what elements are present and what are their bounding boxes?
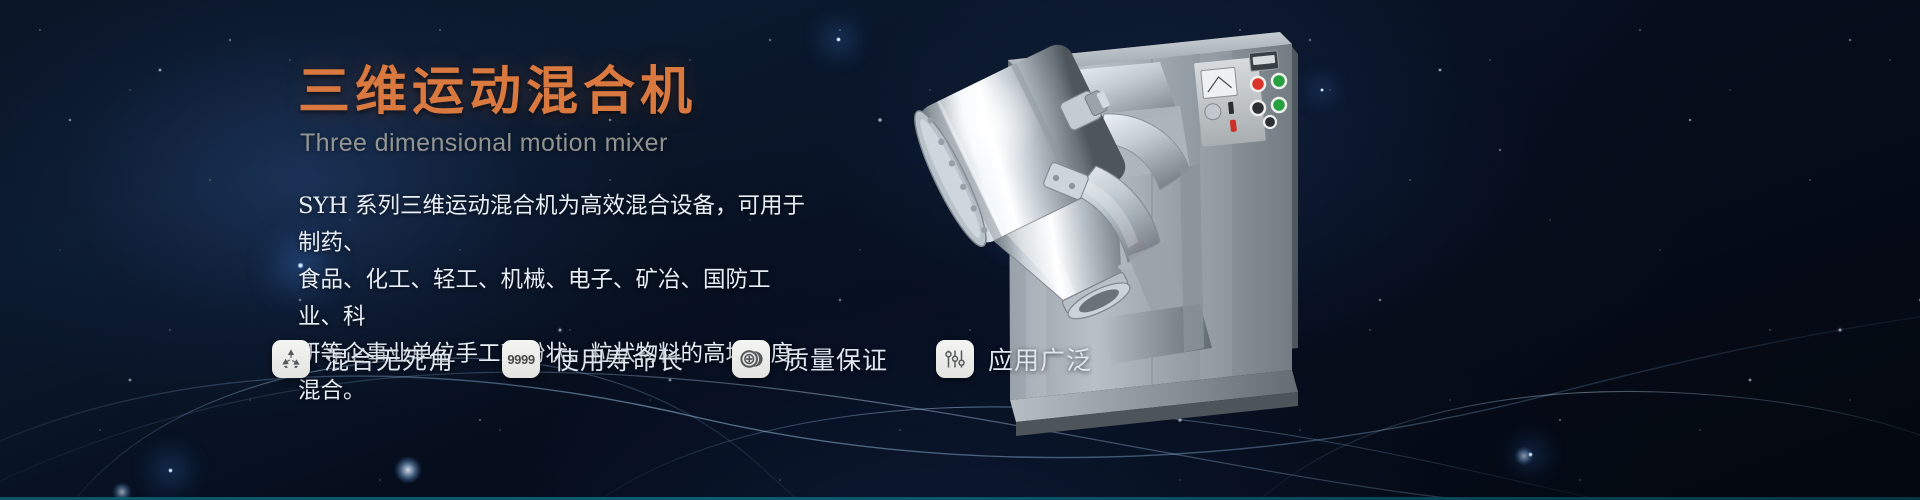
description-line-2: 食品、化工、轻工、机械、电子、矿冶、国防工业、科 (298, 262, 810, 336)
coins-quality-icon (732, 340, 770, 378)
glow-star (168, 468, 173, 473)
recycle-icon (272, 340, 310, 378)
feature-item-no-dead-angle[interactable]: 混合无死角 (272, 340, 454, 378)
feature-list: 混合无死角 9999 使用寿命长 质量保证 (272, 340, 1092, 378)
glow-star (836, 37, 841, 42)
feature-label: 应用广泛 (988, 341, 1092, 377)
feature-item-wide-application[interactable]: 应用广泛 (936, 340, 1092, 378)
feature-item-quality-guarantee[interactable]: 质量保证 (732, 340, 888, 378)
feature-item-long-life[interactable]: 9999 使用寿命长 (502, 340, 684, 378)
glow-star (1528, 452, 1533, 457)
hero-banner: 三维运动混合机 Three dimensional motion mixer S… (0, 0, 1920, 500)
sliders-icon (936, 340, 974, 378)
feature-label: 使用寿命长 (554, 341, 684, 377)
counter-9999-icon: 9999 (502, 340, 540, 378)
description-line-1: SYH 系列三维运动混合机为高效混合设备，可用于制药、 (298, 188, 810, 262)
counter-value: 9999 (507, 352, 534, 367)
feature-label: 混合无死角 (324, 341, 454, 377)
page-title: 三维运动混合机 (298, 64, 858, 120)
feature-label: 质量保证 (784, 341, 888, 377)
subtitle: Three dimensional motion mixer (300, 130, 858, 158)
